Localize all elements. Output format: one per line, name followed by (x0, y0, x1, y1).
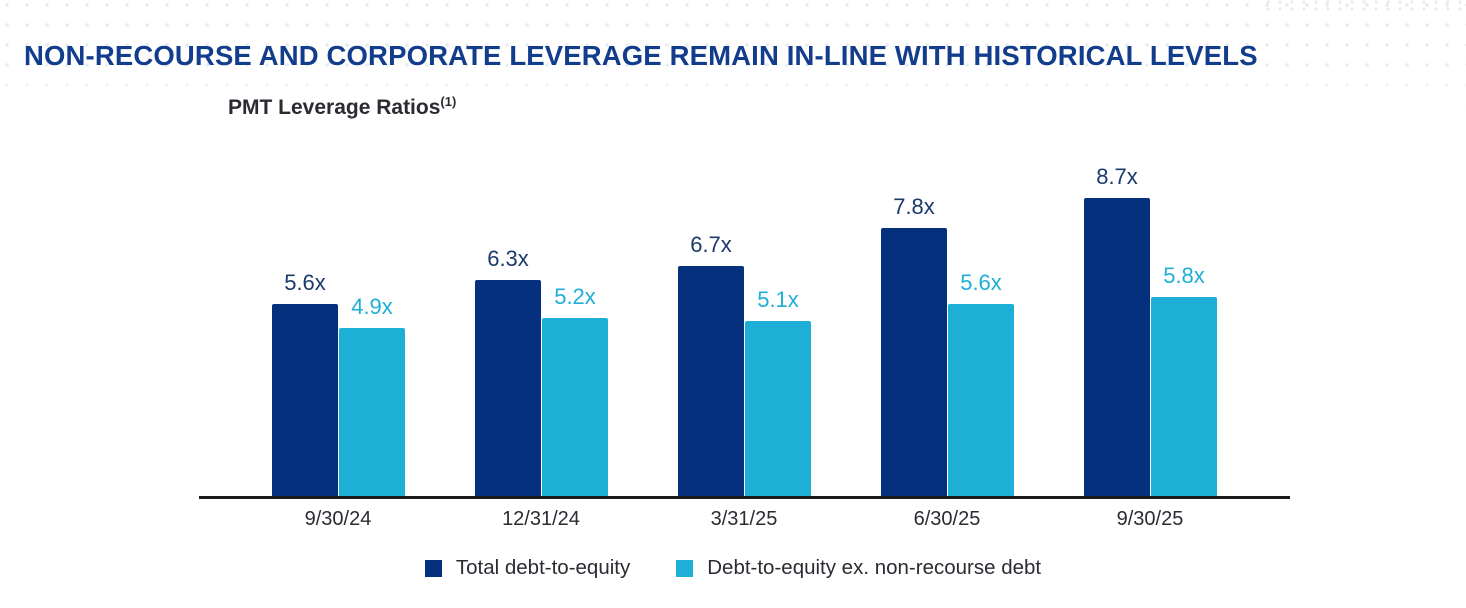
x-axis-line (199, 496, 1290, 499)
bar-debt-to-equity-ex-non-recourse-4 (1151, 297, 1217, 496)
background-dot-texture-corner (1266, 0, 1466, 14)
bar-total-debt-to-equity-0 (272, 304, 338, 496)
bar-value-label: 5.1x (728, 287, 828, 313)
bar-total-debt-to-equity-3 (881, 228, 947, 496)
footnote-marker: (1) (440, 94, 456, 109)
bar-value-label: 8.7x (1067, 164, 1167, 190)
bar-value-label: 5.8x (1134, 263, 1234, 289)
x-axis-tick-label: 3/31/25 (638, 508, 850, 531)
bar-value-label: 6.3x (458, 246, 558, 272)
legend-item-total-debt-to-equity[interactable]: Total debt-to-equity (425, 556, 630, 580)
bar-value-label: 5.6x (255, 270, 355, 296)
x-axis-tick-label: 12/31/24 (435, 508, 647, 531)
bar-debt-to-equity-ex-non-recourse-1 (542, 318, 608, 496)
legend-swatch-navy-icon (425, 560, 442, 577)
x-axis-tick-label: 9/30/25 (1044, 508, 1256, 531)
chart-subtitle: PMT Leverage Ratios(1) (228, 94, 456, 120)
bar-debt-to-equity-ex-non-recourse-3 (948, 304, 1014, 496)
chart-subtitle-text: PMT Leverage Ratios (228, 96, 440, 119)
bar-total-debt-to-equity-4 (1084, 198, 1150, 496)
bar-debt-to-equity-ex-non-recourse-0 (339, 328, 405, 496)
chart-legend: Total debt-to-equity Debt-to-equity ex. … (0, 556, 1466, 580)
bar-total-debt-to-equity-1 (475, 280, 541, 496)
bar-value-label: 7.8x (864, 194, 964, 220)
legend-swatch-cyan-icon (676, 560, 693, 577)
bar-value-label: 5.6x (931, 270, 1031, 296)
leverage-ratios-bar-chart: 5.6x4.9x9/30/246.3x5.2x12/31/246.7x5.1x3… (0, 0, 1466, 608)
x-axis-tick-label: 9/30/24 (232, 508, 444, 531)
x-axis-tick-label: 6/30/25 (841, 508, 1053, 531)
bar-value-label: 4.9x (322, 294, 422, 320)
bar-value-label: 5.2x (525, 284, 625, 310)
page-title: NON-RECOURSE AND CORPORATE LEVERAGE REMA… (24, 40, 1442, 72)
legend-label: Debt-to-equity ex. non-recourse debt (707, 556, 1041, 580)
legend-label: Total debt-to-equity (456, 556, 630, 580)
bar-value-label: 6.7x (661, 232, 761, 258)
bar-debt-to-equity-ex-non-recourse-2 (745, 321, 811, 496)
legend-item-debt-to-equity-ex-non-recourse[interactable]: Debt-to-equity ex. non-recourse debt (676, 556, 1041, 580)
